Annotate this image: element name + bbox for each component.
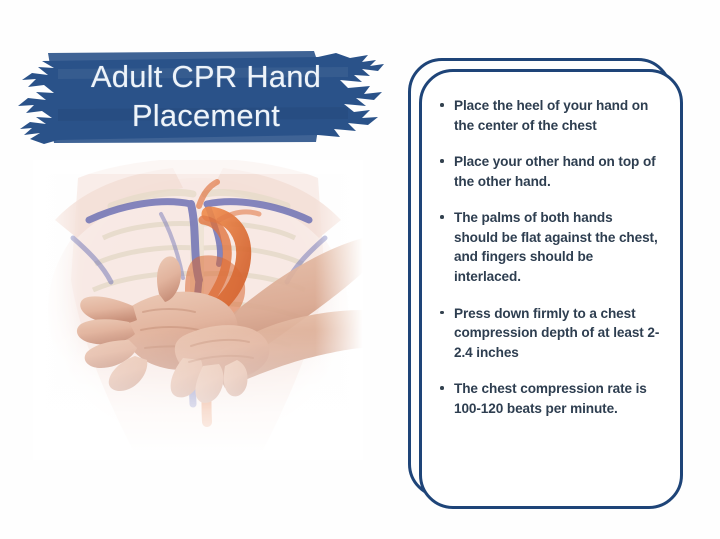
bullet-dot-icon (440, 96, 454, 107)
bullet-dot-icon (440, 152, 454, 163)
list-item: Place your other hand on top of the othe… (440, 152, 660, 191)
anatomy-graphic (33, 160, 363, 460)
instruction-text: Place the heel of your hand on the cente… (454, 96, 660, 135)
bullet-dot-icon (440, 379, 454, 390)
list-item: Place the heel of your hand on the cente… (440, 96, 660, 135)
instruction-list: Place the heel of your hand on the cente… (430, 86, 674, 496)
page-title: Adult CPR HandPlacement (18, 47, 388, 147)
list-item: Press down firmly to a chest compression… (440, 304, 660, 363)
bullet-dot-icon (440, 208, 454, 219)
list-item: The chest compression rate is 100-120 be… (440, 379, 660, 418)
instruction-text: The chest compression rate is 100-120 be… (454, 379, 660, 418)
slide-canvas: Adult CPR HandPlacement (0, 0, 720, 539)
title-line-1: Adult CPR Hand (91, 58, 321, 97)
bullet-dot-icon (440, 304, 454, 315)
cpr-anatomy-illustration (33, 160, 363, 460)
instruction-text: Place your other hand on top of the othe… (454, 152, 660, 191)
title-banner: Adult CPR HandPlacement (18, 47, 388, 147)
instructions-panel: Place the heel of your hand on the cente… (408, 58, 686, 514)
title-line-2: Placement (132, 97, 280, 136)
list-item: The palms of both hands should be flat a… (440, 208, 660, 286)
instruction-text: Press down firmly to a chest compression… (454, 304, 660, 363)
instruction-text: The palms of both hands should be flat a… (454, 208, 660, 286)
